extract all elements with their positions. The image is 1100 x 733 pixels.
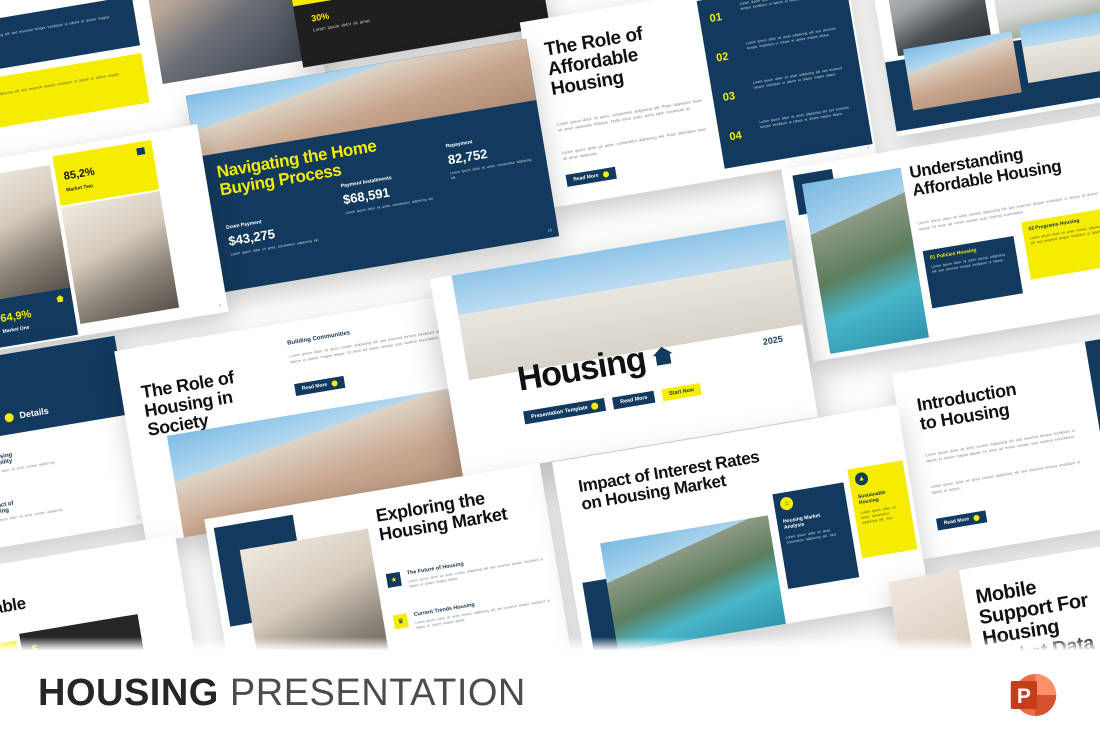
read-more-label: Read More — [943, 516, 969, 526]
list-item[interactable]: ★ The Future of Housing Lorem ipsum dolo… — [386, 548, 548, 594]
slide-page-number: 5 — [219, 303, 222, 308]
presentation-template-button[interactable]: Presentation Template — [523, 398, 606, 424]
arrow-dot-icon — [591, 402, 599, 410]
slide-body-2: Lorem ipsum dolor sit amet consec adipis… — [930, 460, 1085, 497]
slide-photo — [61, 191, 179, 324]
arrow-dot-icon — [602, 171, 609, 178]
slide-title: The Role of Affordable Housing — [543, 16, 701, 100]
slide-title: Exploring the Housing Market — [375, 479, 549, 545]
leaf-badge-icon: ▲ — [854, 471, 869, 486]
stat-label: Market Two — [66, 183, 94, 193]
stat-value: 85,2% — [63, 166, 96, 183]
stat-block: Down Payment $43,275 Lorem ipsum dolor s… — [226, 209, 325, 257]
details-header-band — [0, 336, 128, 456]
card-label: Sustainable Housing — [858, 487, 903, 506]
slide-photo-gallery[interactable]: 8 — [867, 0, 1100, 136]
slide-photo — [138, 0, 309, 84]
slide-body-1: Lorem ipsum dolor sit amet consec adipis… — [925, 428, 1080, 465]
list-item-body: Lorem ipsum dolor sit amet adipiscing el… — [759, 104, 857, 130]
chart-icon — [136, 147, 145, 155]
presentation-mockup-canvas: Understanding Housing Market 01 Trends a… — [0, 0, 1100, 733]
slide-page-number: 9 — [866, 145, 869, 150]
list-item[interactable]: 02 — [715, 47, 730, 67]
card[interactable]: 01 Policies Housing Lorem ipsum dolor si… — [923, 236, 1023, 308]
slide-body-2: Lorem ipsum dolor sit amet, consectetur … — [561, 126, 709, 162]
house-icon — [651, 345, 674, 366]
list-item-number: 02 — [715, 51, 729, 65]
list-item[interactable]: 03 The Housing Affordability Lorem ipsum… — [0, 443, 70, 482]
read-more-label: Read More — [302, 382, 328, 392]
badge-icon: ★ — [386, 572, 402, 588]
brand-bar: HOUSING PRESENTATION P — [0, 653, 1100, 733]
list-item[interactable]: 02 Insights for Buyers Lorem ipsum dolor… — [0, 53, 150, 138]
read-more-label: Read More — [620, 394, 648, 404]
slide-introduction-to-housing[interactable]: Introduction to Housing Lorem ipsum dolo… — [892, 325, 1100, 560]
numbered-list-panel: 01 Lorem ipsum dolor sit amet adipiscing… — [697, 0, 873, 169]
house-badge-icon: ⌂ — [779, 496, 794, 511]
stat-block: Repayment 82,752 Lorem ipsum dolor sit a… — [445, 129, 538, 181]
read-more-button[interactable]: Read More — [294, 376, 345, 396]
stat-block: 64,9% Market One — [0, 287, 78, 348]
stat-band-accent — [280, 0, 539, 7]
arrow-dot-icon — [973, 515, 980, 522]
list-item[interactable]: ♛ Current Trends Housing Lorem ipsum dol… — [393, 589, 555, 635]
slide-title: Understanding Affordable Housing — [908, 130, 1100, 200]
list-item-body: Lorem ipsum dolor sit amet adipiscing el… — [739, 0, 837, 12]
worker-icon: ♛ — [393, 613, 409, 629]
card[interactable]: 02 Programs Housing Lorem ipsum dolor si… — [1021, 207, 1100, 279]
bullet-dot-icon — [4, 412, 14, 422]
slide-page-number: 2 — [136, 514, 139, 519]
slide-body: Lorem ipsum dolor sit amet consec adipis… — [289, 329, 444, 366]
slide-subhead: Building Communities — [287, 330, 351, 346]
slide-title: House Price Table — [0, 595, 27, 636]
brand-word-light: PRESENTATION — [230, 672, 526, 714]
stat-value: 64,9% — [0, 308, 32, 325]
brand-word-bold: HOUSING — [38, 672, 219, 714]
read-more-button[interactable]: Read More — [612, 390, 655, 409]
start-now-button[interactable]: Start Now — [661, 382, 702, 400]
start-now-label: Start Now — [669, 387, 695, 397]
slide-photo — [802, 168, 929, 354]
list-item-number: 01 — [709, 11, 723, 25]
list-item[interactable]: 03 — [721, 86, 736, 106]
slide-market-percentages[interactable]: Housing Lorem ipsum dolor sit amet adipi… — [0, 124, 228, 366]
card[interactable]: ⌂ Housing Market Analysis Lorem ipsum do… — [772, 482, 859, 589]
cover-year: 2025 — [762, 334, 783, 347]
read-more-label: Read More — [573, 173, 599, 183]
read-more-button[interactable]: Read More — [566, 167, 617, 187]
list-item[interactable]: 01 — [708, 7, 723, 27]
brand-title: HOUSING PRESENTATION — [38, 672, 526, 715]
list-item-body: Lorem ipsum dolor sit amet adipiscing el… — [753, 65, 851, 91]
slide-page-number: 6 — [562, 647, 565, 652]
side-accent — [1085, 337, 1100, 527]
presentation-template-label: Presentation Template — [531, 404, 589, 419]
arrow-dot-icon — [331, 380, 338, 387]
read-more-button[interactable]: Read More — [936, 511, 987, 531]
powerpoint-logo: P — [1002, 667, 1058, 723]
slide-page-number: 10 — [547, 227, 552, 233]
list-item-number: 04 — [729, 130, 743, 144]
powerpoint-logo-letter: P — [1017, 685, 1031, 708]
card[interactable]: ▲ Sustainable Housing Lorem ipsum dolor … — [847, 460, 917, 558]
slide-body-1: Lorem ipsum dolor sit amet, consectetur … — [557, 97, 705, 133]
list-item[interactable]: 05 Contact of Housing Lorem ipsum dolor … — [0, 490, 78, 529]
stat-value: 30% — [310, 11, 329, 24]
card-body: Lorem ipsum dolor sit amet, consectetur … — [860, 504, 906, 526]
slide-title: Introduction to Housing — [916, 370, 1080, 434]
stat-label: Market One — [2, 325, 30, 335]
list-item-number: 03 — [722, 90, 736, 104]
house-icon — [55, 294, 64, 302]
list-item[interactable]: 04 — [728, 126, 743, 146]
slide-photo — [600, 515, 786, 652]
list-item-body: Lorem ipsum dolor sit amet adipiscing el… — [746, 25, 844, 51]
